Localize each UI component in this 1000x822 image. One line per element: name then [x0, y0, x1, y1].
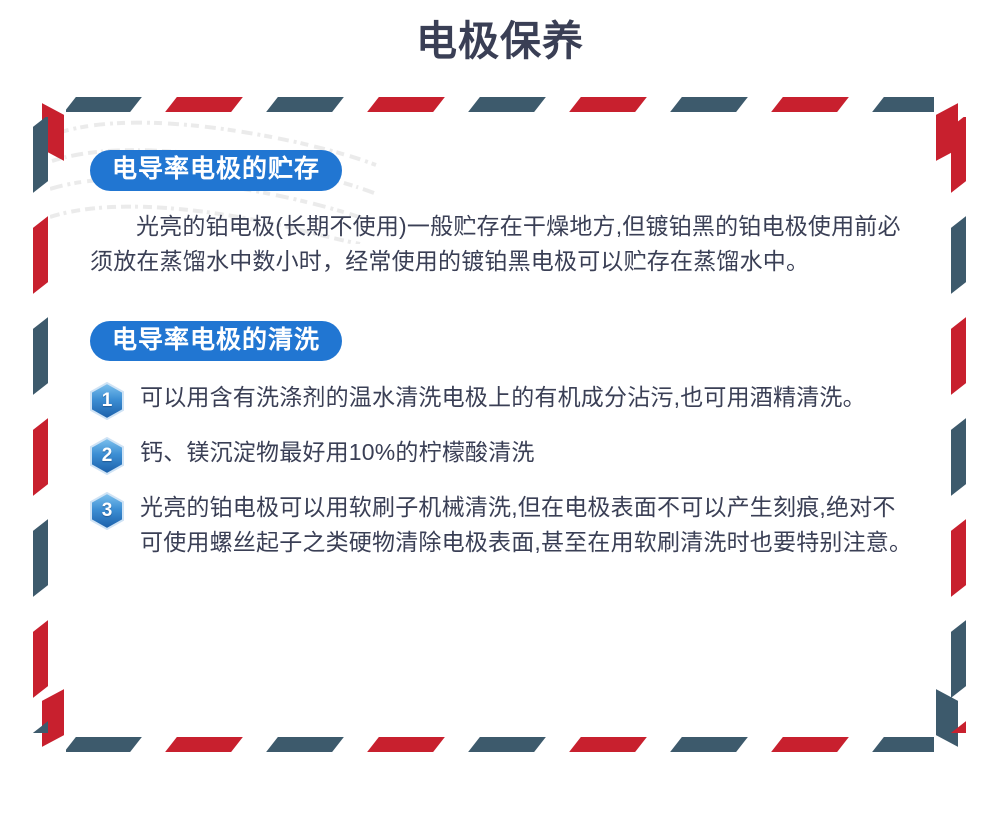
- list-item-text: 钙、镁沉淀物最好用10%的柠檬酸清洗: [140, 434, 535, 470]
- border-dash: [951, 418, 966, 496]
- border-dash: [872, 737, 934, 752]
- page-title: 电极保养: [0, 0, 1000, 65]
- section-badge-storage: 电导率电极的贮存: [90, 150, 342, 191]
- border-dash: [951, 519, 966, 597]
- border-dash: [165, 737, 243, 752]
- border-dash: [33, 117, 48, 193]
- border-dash: [951, 620, 966, 698]
- section-storage: 电导率电极的贮存 光亮的铂电极(长期不使用)一般贮存在干燥地方,但镀铂黑的铂电极…: [90, 150, 915, 279]
- border-dash: [670, 97, 748, 112]
- card-content: 电导率电极的贮存 光亮的铂电极(长期不使用)一般贮存在干燥地方,但镀铂黑的铂电极…: [90, 150, 915, 560]
- border-dash: [66, 737, 142, 752]
- border-dash: [468, 97, 546, 112]
- list-item-text: 光亮的铂电极可以用软刷子机械清洗,但在电极表面不可以产生刻痕,绝对不可使用螺丝起…: [140, 489, 915, 560]
- airmail-card: 电导率电极的贮存 光亮的铂电极(长期不使用)一般贮存在干燥地方,但镀铂黑的铂电极…: [30, 95, 970, 755]
- border-dash: [367, 97, 445, 112]
- border-strip-bottom: [66, 735, 934, 755]
- border-dash: [771, 97, 849, 112]
- border-dash: [468, 737, 546, 752]
- cleaning-list: 1 可以用含有洗涤剂的温水清洗电极上的有机成分沾污,也可用酒精清洗。: [90, 379, 915, 560]
- border-dash: [872, 97, 934, 112]
- border-dash: [266, 737, 344, 752]
- section-badge-cleaning: 电导率电极的清洗: [90, 321, 342, 362]
- list-item-number: 3: [90, 492, 124, 530]
- border-strip-left: [30, 117, 52, 733]
- border-dash: [33, 317, 48, 395]
- border-dash: [33, 418, 48, 496]
- border-dash: [33, 721, 48, 733]
- border-dash: [951, 216, 966, 294]
- border-dash: [266, 97, 344, 112]
- border-dash: [951, 721, 966, 733]
- border-dash: [771, 737, 849, 752]
- list-item: 1 可以用含有洗涤剂的温水清洗电极上的有机成分沾污,也可用酒精清洗。: [90, 379, 915, 420]
- list-item-number: 1: [90, 382, 124, 420]
- border-dash: [33, 620, 48, 698]
- list-item-text: 可以用含有洗涤剂的温水清洗电极上的有机成分沾污,也可用酒精清洗。: [140, 379, 866, 415]
- border-dash: [670, 737, 748, 752]
- border-dash: [569, 97, 647, 112]
- hexagon-number-badge-icon: 3: [90, 492, 124, 530]
- border-dash: [165, 97, 243, 112]
- list-item: 2 钙、镁沉淀物最好用10%的柠檬酸清洗: [90, 434, 915, 475]
- border-dash: [33, 216, 48, 294]
- list-item-number: 2: [90, 437, 124, 475]
- list-item: 3 光亮的铂电极可以用软刷子机械清洗,但在电极表面不可以产生刻痕,绝对不可使用螺…: [90, 489, 915, 560]
- border-dash: [367, 737, 445, 752]
- border-dash: [951, 317, 966, 395]
- border-dash: [66, 97, 142, 112]
- section-cleaning: 电导率电极的清洗: [90, 321, 915, 561]
- border-strip-right: [948, 117, 970, 733]
- border-dash: [33, 519, 48, 597]
- border-strip-top: [66, 95, 934, 115]
- hexagon-number-badge-icon: 2: [90, 437, 124, 475]
- border-dash: [951, 117, 966, 193]
- hexagon-number-badge-icon: 1: [90, 382, 124, 420]
- border-dash: [569, 737, 647, 752]
- storage-paragraph: 光亮的铂电极(长期不使用)一般贮存在干燥地方,但镀铂黑的铂电极使用前必须放在蒸馏…: [90, 209, 915, 279]
